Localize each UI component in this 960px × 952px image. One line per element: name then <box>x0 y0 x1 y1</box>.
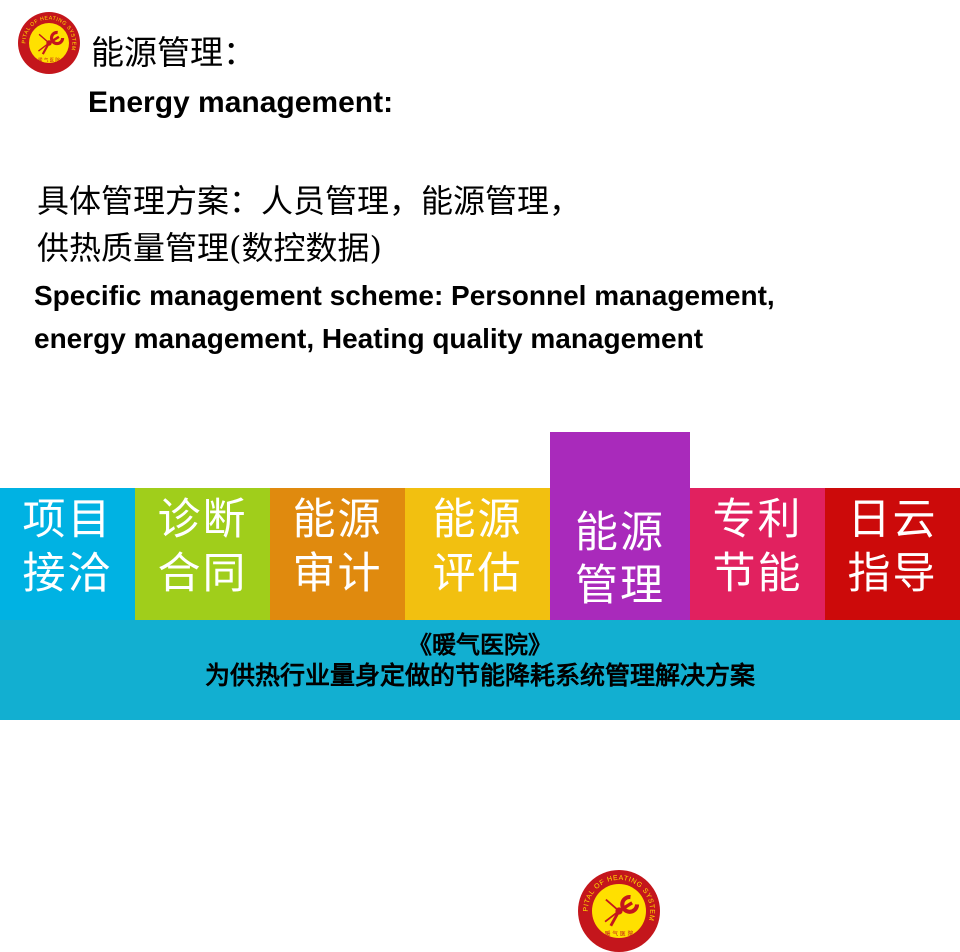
process-tile-nengyuan-shenji[interactable]: 能源 审计 <box>270 488 405 620</box>
process-tile-nengyuan-guanli-active[interactable]: 能源 管理 <box>550 432 690 620</box>
process-tile-line1: 能源 <box>293 494 383 548</box>
hospital-of-heating-system-logo-icon-tile: HOSPITAL OF HEATING SYSTEM 暖 气 医 院 <box>578 870 660 952</box>
process-tile-zhuanli-jieneng[interactable]: 专利 节能 <box>690 488 825 620</box>
process-tile-nengyuan-pinggu[interactable]: 能源 评估 <box>405 488 550 620</box>
process-tile-riyun-zhidao[interactable]: 日云 指导 <box>825 488 960 620</box>
logo-wrench-fan-icon: HOSPITAL OF HEATING SYSTEM 暖 气 医 院 <box>18 12 80 74</box>
process-tile-line2: 节能 <box>713 548 803 602</box>
body-text-english: Specific management scheme: Personnel ma… <box>34 275 834 360</box>
process-tile-xiangmu-jiaqia[interactable]: 项目 接洽 <box>0 488 135 620</box>
footer-caption-subtitle: 为供热行业量身定做的节能降耗系统管理解决方案 <box>0 660 960 693</box>
process-tile-line1: 诊断 <box>158 494 248 548</box>
process-tile-line1: 日云 <box>848 494 938 548</box>
body-text-chinese: 具体管理方案：人员管理，能源管理， 供热质量管理(数控数据) <box>37 178 581 273</box>
footer-caption-bar: 《暖气医院》 为供热行业量身定做的节能降耗系统管理解决方案 <box>0 620 960 720</box>
process-tile-line2: 审计 <box>293 548 383 602</box>
logo-wrench-fan-icon: HOSPITAL OF HEATING SYSTEM 暖 气 医 院 <box>578 870 660 952</box>
process-tile-zhenduan-hetong[interactable]: 诊断 合同 <box>135 488 270 620</box>
process-tile-line1: 项目 <box>23 494 113 548</box>
process-tile-line1: 能源 <box>575 507 665 561</box>
page-title-english: Energy management: <box>88 86 393 119</box>
svg-text:暖 气 医 院: 暖 气 医 院 <box>605 930 634 938</box>
process-step-bar: 项目 接洽 诊断 合同 能源 审计 能源 评估 能源 管理 专利 节能 日云 指… <box>0 432 960 620</box>
page-title-chinese: 能源管理： <box>91 35 256 71</box>
process-tile-line1: 能源 <box>433 494 523 548</box>
process-tile-line2: 合同 <box>158 548 248 602</box>
process-tile-line2: 接洽 <box>23 548 113 602</box>
process-tile-line1: 专利 <box>713 494 803 548</box>
process-tile-line2: 评估 <box>433 548 523 602</box>
hospital-of-heating-system-logo-icon: HOSPITAL OF HEATING SYSTEM 暖 气 医 院 <box>18 12 80 74</box>
process-tile-line2: 指导 <box>848 548 938 602</box>
footer-caption-title: 《暖气医院》 <box>0 620 960 660</box>
process-tile-line2: 管理 <box>575 560 665 614</box>
svg-text:暖 气 医 院: 暖 气 医 院 <box>38 57 60 64</box>
slide-canvas: HOSPITAL OF HEATING SYSTEM 暖 气 医 院 能源管理：… <box>0 0 960 720</box>
